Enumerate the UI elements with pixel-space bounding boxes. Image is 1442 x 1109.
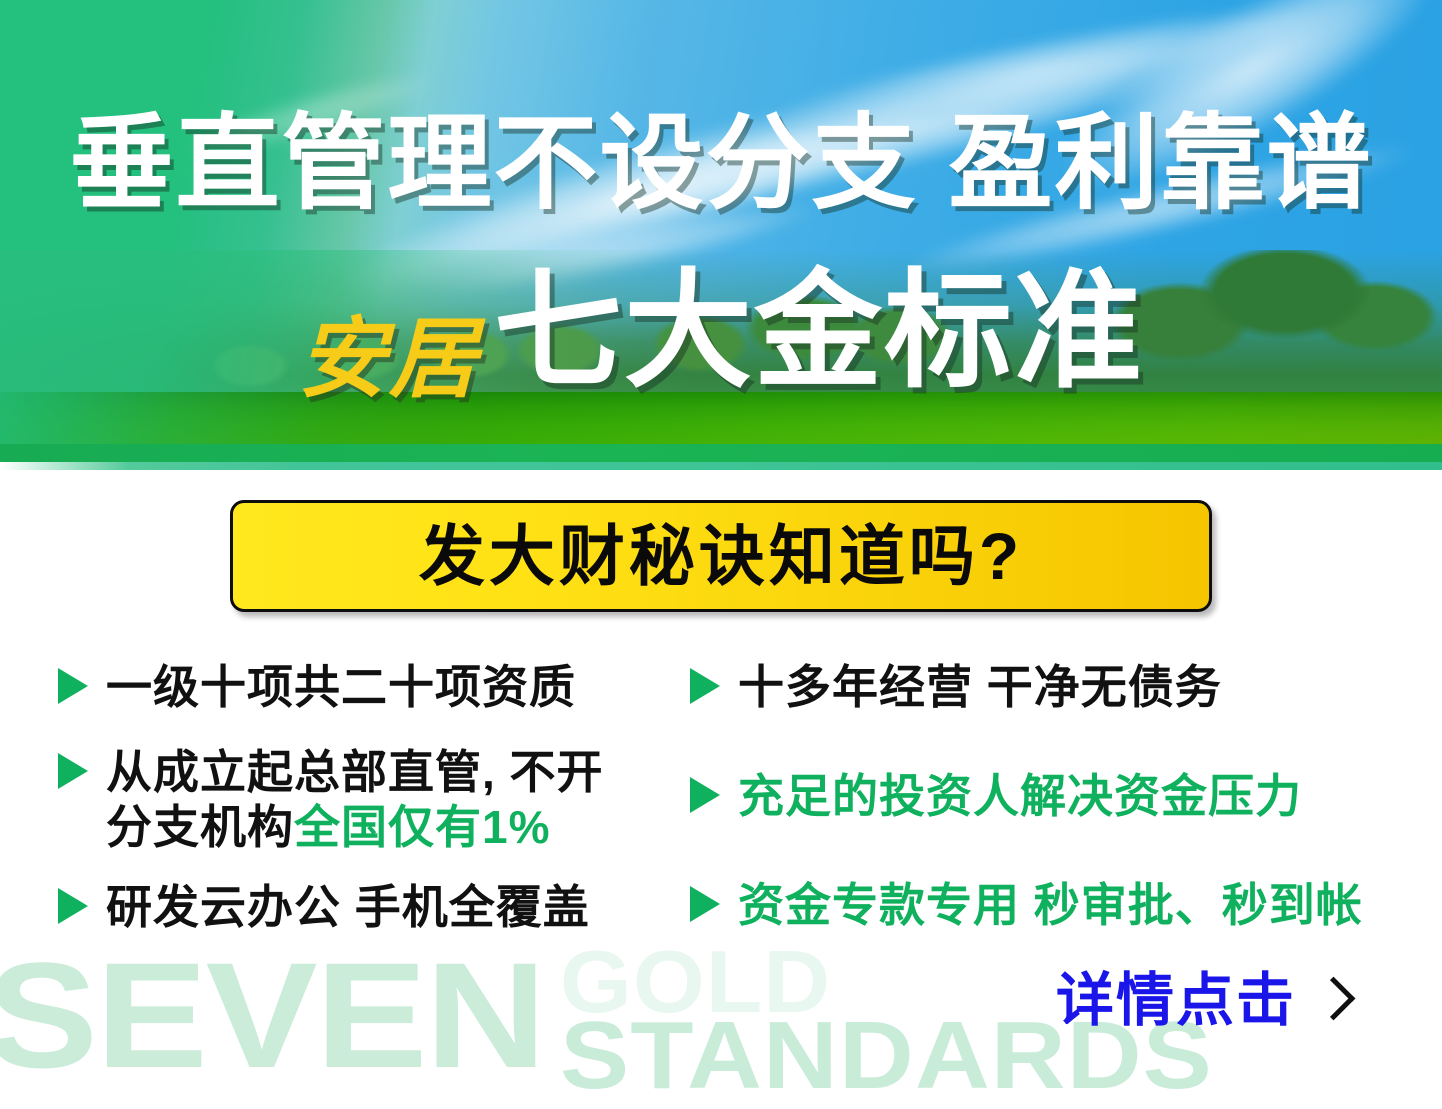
feature-text: 资金专款专用 秒审批、秒到帐 [738, 878, 1363, 933]
list-item: 研发云办公 手机全覆盖 [58, 880, 678, 935]
triangle-right-icon [690, 886, 720, 922]
feature-text-plain: 分支机构 [106, 801, 294, 853]
feature-text: 一级十项共二十项资质 [106, 660, 576, 715]
feature-text: 研发云办公 手机全覆盖 [106, 880, 590, 935]
triangle-right-icon [58, 888, 88, 924]
feature-line: 研发云办公 手机全覆盖 [106, 880, 590, 935]
hero-bottom-green-bar [0, 444, 1442, 462]
feature-line: 从成立起总部直管, 不开 [106, 745, 604, 800]
feature-text-highlight: 全国仅有1% [294, 801, 550, 853]
list-item: 充足的投资人解决资金压力 [690, 769, 1390, 824]
list-item: 从成立起总部直管, 不开 分支机构全国仅有1% [58, 745, 678, 855]
triangle-right-icon [690, 668, 720, 704]
hero-headline-primary: 垂直管理不设分支 盈利靠谱 [0, 112, 1442, 216]
feature-line: 十多年经营 干净无债务 [738, 660, 1222, 715]
feature-column-right: 十多年经营 干净无债务 充足的投资人解决资金压力 资金专款专用 秒审批、秒到帐 [690, 660, 1390, 988]
feature-column-left: 一级十项共二十项资质 从成立起总部直管, 不开 分支机构全国仅有1% 研发云办公… [58, 660, 678, 963]
feature-text: 充足的投资人解决资金压力 [738, 769, 1302, 824]
hero-bottom-fade-strip [0, 462, 1442, 470]
promo-ribbon[interactable]: 发大财秘诀知道吗? [230, 500, 1212, 612]
feature-line: 一级十项共二十项资质 [106, 660, 576, 715]
feature-text: 从成立起总部直管, 不开 分支机构全国仅有1% [106, 745, 604, 855]
triangle-right-icon [690, 777, 720, 813]
feature-line: 充足的投资人解决资金压力 [738, 769, 1302, 824]
feature-line: 分支机构全国仅有1% [106, 800, 604, 855]
details-cta-button[interactable]: 详情点击 [1056, 972, 1344, 1030]
feature-columns: 一级十项共二十项资质 从成立起总部直管, 不开 分支机构全国仅有1% 研发云办公… [0, 660, 1442, 980]
triangle-right-icon [58, 753, 88, 789]
hero-banner: 垂直管理不设分支 盈利靠谱 安居七大金标准 [0, 0, 1442, 470]
brand-label: 安居 [298, 315, 480, 403]
details-cta-label: 详情点击 [1056, 972, 1296, 1030]
list-item: 十多年经营 干净无债务 [690, 660, 1390, 715]
list-item: 资金专款专用 秒审批、秒到帐 [690, 878, 1390, 933]
hero-title-seven-gold-standards: 七大金标准 [494, 268, 1144, 396]
list-item: 一级十项共二十项资质 [58, 660, 678, 715]
feature-text: 十多年经营 干净无债务 [738, 660, 1222, 715]
triangle-right-icon [58, 668, 88, 704]
feature-line: 资金专款专用 秒审批、秒到帐 [738, 878, 1363, 933]
promo-ribbon-label: 发大财秘诀知道吗? [419, 523, 1023, 589]
chevron-right-icon [1318, 978, 1344, 1024]
hero-headline-secondary: 安居七大金标准 [0, 268, 1442, 403]
